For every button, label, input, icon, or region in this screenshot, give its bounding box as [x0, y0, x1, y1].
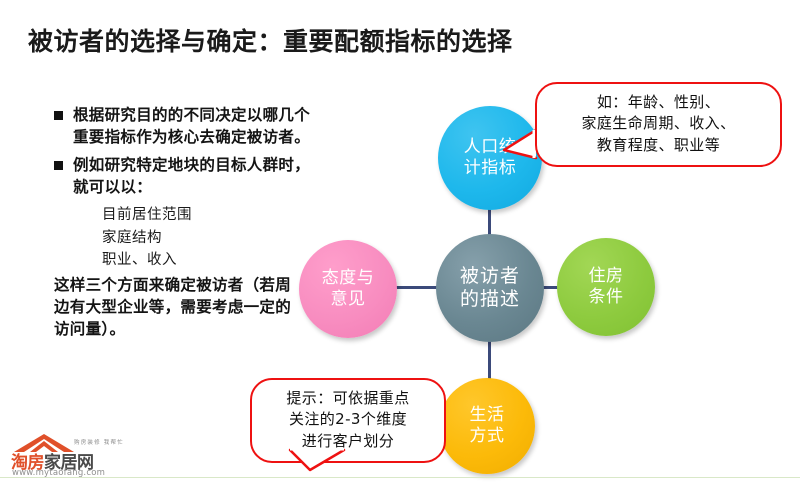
connector-center-bottom: [488, 338, 491, 380]
node-label-line: 条件: [589, 287, 624, 308]
callout-line: 家庭生命周期、收入、: [547, 113, 770, 134]
node-label-line: 人口统: [464, 137, 517, 158]
callout-line: 提示：可依据重点: [260, 388, 436, 409]
callout-tip-dimensions: 提示：可依据重点 关注的2-3个维度 进行客户划分: [250, 378, 446, 463]
node-label-line: 被访者: [460, 265, 520, 288]
diagram-node-lifestyle[interactable]: 生活 方式: [439, 378, 535, 474]
node-label-line: 意见: [331, 289, 366, 310]
callout-line: 如：年龄、性别、: [547, 92, 770, 113]
node-label-line: 住房: [589, 266, 624, 287]
node-label-line: 的描述: [460, 288, 520, 311]
logo-url: www.mytaofang.com: [12, 468, 105, 478]
diagram-node-demographics[interactable]: 人口统 计指标: [438, 106, 542, 210]
callout-line: 进行客户划分: [260, 431, 436, 452]
node-label-line: 态度与: [322, 268, 375, 289]
footer-divider: [0, 477, 800, 478]
callout-line: 关注的2-3个维度: [260, 409, 436, 430]
node-label-line: 方式: [470, 426, 505, 447]
square-bullet-icon: [54, 111, 63, 120]
connector-center-left: [394, 286, 438, 289]
diagram-node-housing[interactable]: 住房 条件: [557, 238, 655, 336]
diagram-node-attitudes[interactable]: 态度与 意见: [299, 240, 397, 338]
diagram-node-center[interactable]: 被访者 的描述: [436, 234, 544, 342]
square-bullet-icon: [54, 161, 63, 170]
callout-demographics-examples: 如：年龄、性别、 家庭生命周期、收入、 教育程度、职业等: [535, 82, 782, 167]
closing-paragraph: 这样三个方面来确定被访者（若周边有大型企业等，需要考虑一定的访问量）。: [54, 274, 306, 340]
site-watermark-logo: 购房装修 我帮忙 淘房家居网 www.mytaofang.com: [8, 432, 120, 478]
callout-line: 教育程度、职业等: [547, 135, 770, 156]
page-title: 被访者的选择与确定：重要配额指标的选择: [28, 22, 513, 58]
logo-slogan: 购房装修 我帮忙: [74, 438, 124, 446]
node-label-line: 生活: [470, 405, 505, 426]
node-label-line: 计指标: [464, 158, 517, 179]
